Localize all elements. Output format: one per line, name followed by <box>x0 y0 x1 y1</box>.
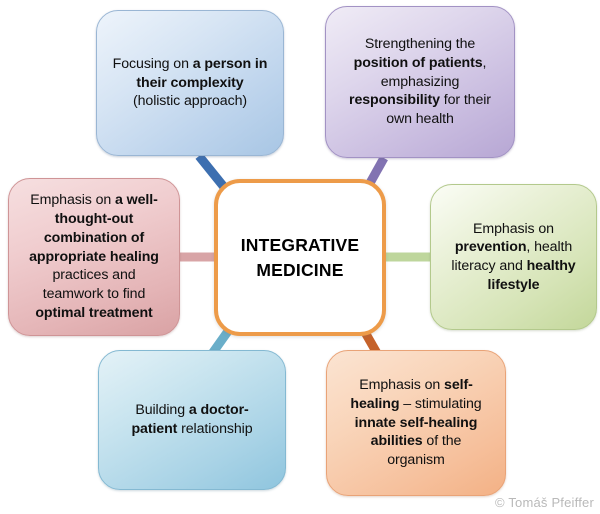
node-center-integrative-medicine[interactable]: INTEGRATIVE MEDICINE <box>214 179 386 336</box>
node-healing-combination-label: Emphasis on a well-thought-out combinati… <box>23 191 165 322</box>
node-patient-position-label: Strengthening the position of patients, … <box>340 35 500 129</box>
copyright-credit: © Tomáš Pfeiffer <box>495 495 594 510</box>
node-center-label-line1: INTEGRATIVE <box>241 235 360 255</box>
node-center-label-line2: MEDICINE <box>256 260 343 280</box>
node-doctor-patient-relationship-label: Building a doctor-patient relationship <box>113 401 271 438</box>
node-self-healing[interactable]: Emphasis on self-healing – stimulating i… <box>326 350 506 496</box>
node-patient-position[interactable]: Strengthening the position of patients, … <box>325 6 515 158</box>
node-prevention[interactable]: Emphasis on prevention, health literacy … <box>430 184 597 330</box>
node-holistic-approach-label: Focusing on a person in their complexity… <box>111 55 269 111</box>
node-doctor-patient-relationship[interactable]: Building a doctor-patient relationship <box>98 350 286 490</box>
node-prevention-label: Emphasis on prevention, health literacy … <box>445 220 582 295</box>
node-self-healing-label: Emphasis on self-healing – stimulating i… <box>341 376 491 470</box>
diagram-canvas: Focusing on a person in their complexity… <box>0 0 600 514</box>
node-holistic-approach[interactable]: Focusing on a person in their complexity… <box>96 10 284 156</box>
node-healing-combination[interactable]: Emphasis on a well-thought-out combinati… <box>8 178 180 336</box>
node-center-label: INTEGRATIVE MEDICINE <box>241 233 360 283</box>
